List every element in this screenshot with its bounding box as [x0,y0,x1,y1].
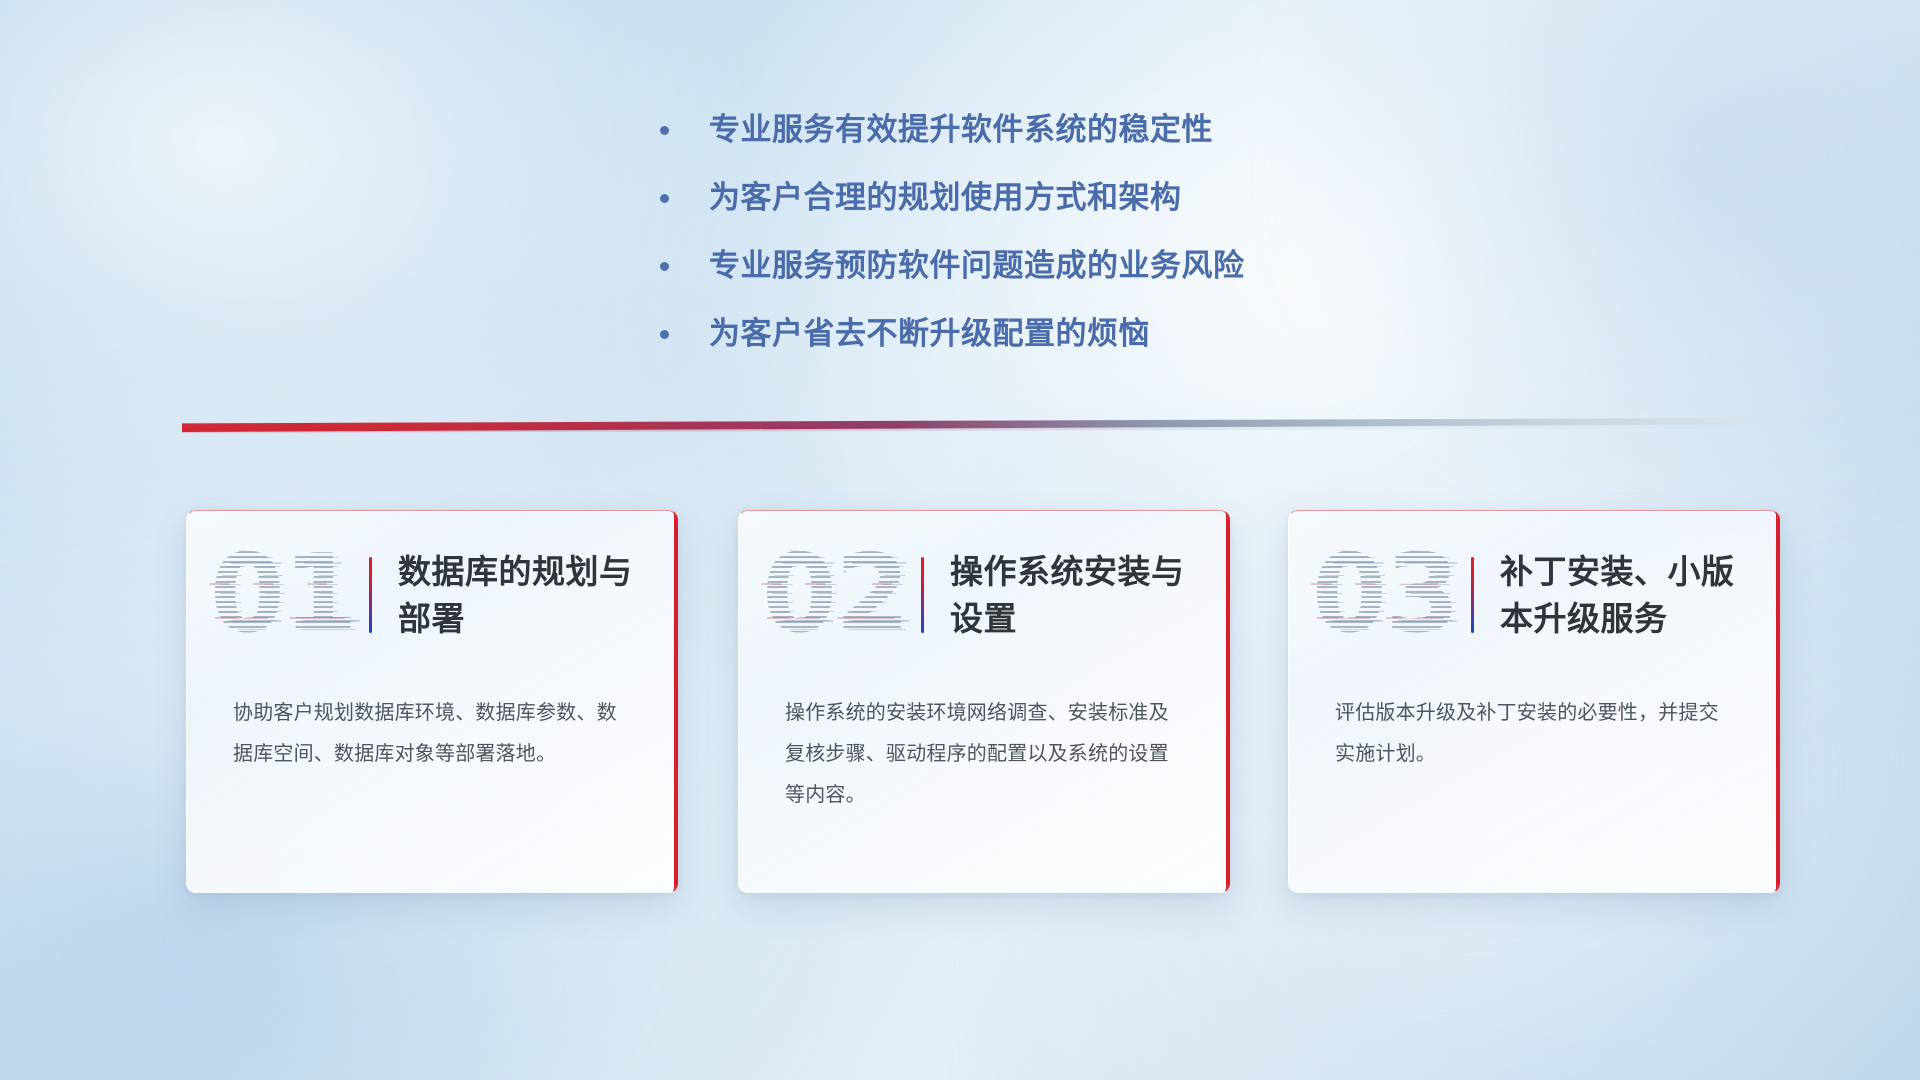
card-inner: 01 01 01 01 数据库的规划与部署 协助客户规划数据库环境、数据库参数、… [187,511,676,892]
card-title: 操作系统安装与设置 [950,548,1200,642]
card-title: 数据库的规划与部署 [398,548,648,642]
bullet-text: 为客户省去不断升级配置的烦恼 [709,314,1150,354]
bullet-text: 专业服务预防软件问题造成的业务风险 [709,246,1245,286]
card-number-watermark: 03 03 03 03 [1311,536,1459,654]
service-card[interactable]: 01 01 01 01 数据库的规划与部署 协助客户规划数据库环境、数据库参数、… [186,510,678,893]
card-body-text: 评估版本升级及补丁安装的必要性，并提交实施计划。 [1289,679,1778,775]
card-number-layer-blue: 03 [1320,536,1468,654]
card-inner: 03 03 03 03 补丁安装、小版本升级服务 评估版本升级及补丁安装的必要性… [1289,511,1778,892]
benefits-bullet-list: 专业服务有效提升软件系统的稳定性 为客户合理的规划使用方式和架构 专业服务预防软… [660,110,1480,382]
card-inner: 02 02 02 02 操作系统安装与设置 操作系统的安装环境网络调查、安装标准… [739,511,1228,892]
section-divider [182,418,1742,436]
card-body-text: 协助客户规划数据库环境、数据库参数、数据库空间、数据库对象等部署落地。 [187,679,676,775]
bullet-dot-icon [660,330,669,339]
card-title: 补丁安装、小版本升级服务 [1500,548,1750,642]
card-accent-bar [921,557,924,633]
bullet-dot-icon [660,194,669,203]
list-item: 专业服务有效提升软件系统的稳定性 [660,110,1480,150]
list-item: 专业服务预防软件问题造成的业务风险 [660,246,1480,286]
service-card[interactable]: 03 03 03 03 补丁安装、小版本升级服务 评估版本升级及补丁安装的必要性… [1288,510,1780,893]
card-body-text: 操作系统的安装环境网络调查、安装标准及复核步骤、驱动程序的配置以及系统的设置等内… [739,679,1228,816]
bullet-text: 为客户合理的规划使用方式和架构 [709,178,1182,218]
bullet-text: 专业服务有效提升软件系统的稳定性 [709,110,1213,150]
slide-canvas: 专业服务有效提升软件系统的稳定性 为客户合理的规划使用方式和架构 专业服务预防软… [0,0,1920,1080]
card-accent-bar [369,557,372,633]
service-card[interactable]: 02 02 02 02 操作系统安装与设置 操作系统的安装环境网络调查、安装标准… [738,510,1230,893]
card-number-layer-blue: 02 [770,536,918,654]
card-header: 01 01 01 01 数据库的规划与部署 [187,511,676,679]
card-number-watermark: 02 02 02 02 [761,536,909,654]
card-accent-bar [1471,557,1474,633]
service-card-group: 01 01 01 01 数据库的规划与部署 协助客户规划数据库环境、数据库参数、… [0,510,1920,910]
bullet-dot-icon [660,262,669,271]
list-item: 为客户合理的规划使用方式和架构 [660,178,1480,218]
list-item: 为客户省去不断升级配置的烦恼 [660,314,1480,354]
card-number-watermark: 01 01 01 01 [209,536,357,654]
card-header: 03 03 03 03 补丁安装、小版本升级服务 [1289,511,1778,679]
card-header: 02 02 02 02 操作系统安装与设置 [739,511,1228,679]
bullet-dot-icon [660,126,669,135]
card-number-layer-blue: 01 [218,536,366,654]
